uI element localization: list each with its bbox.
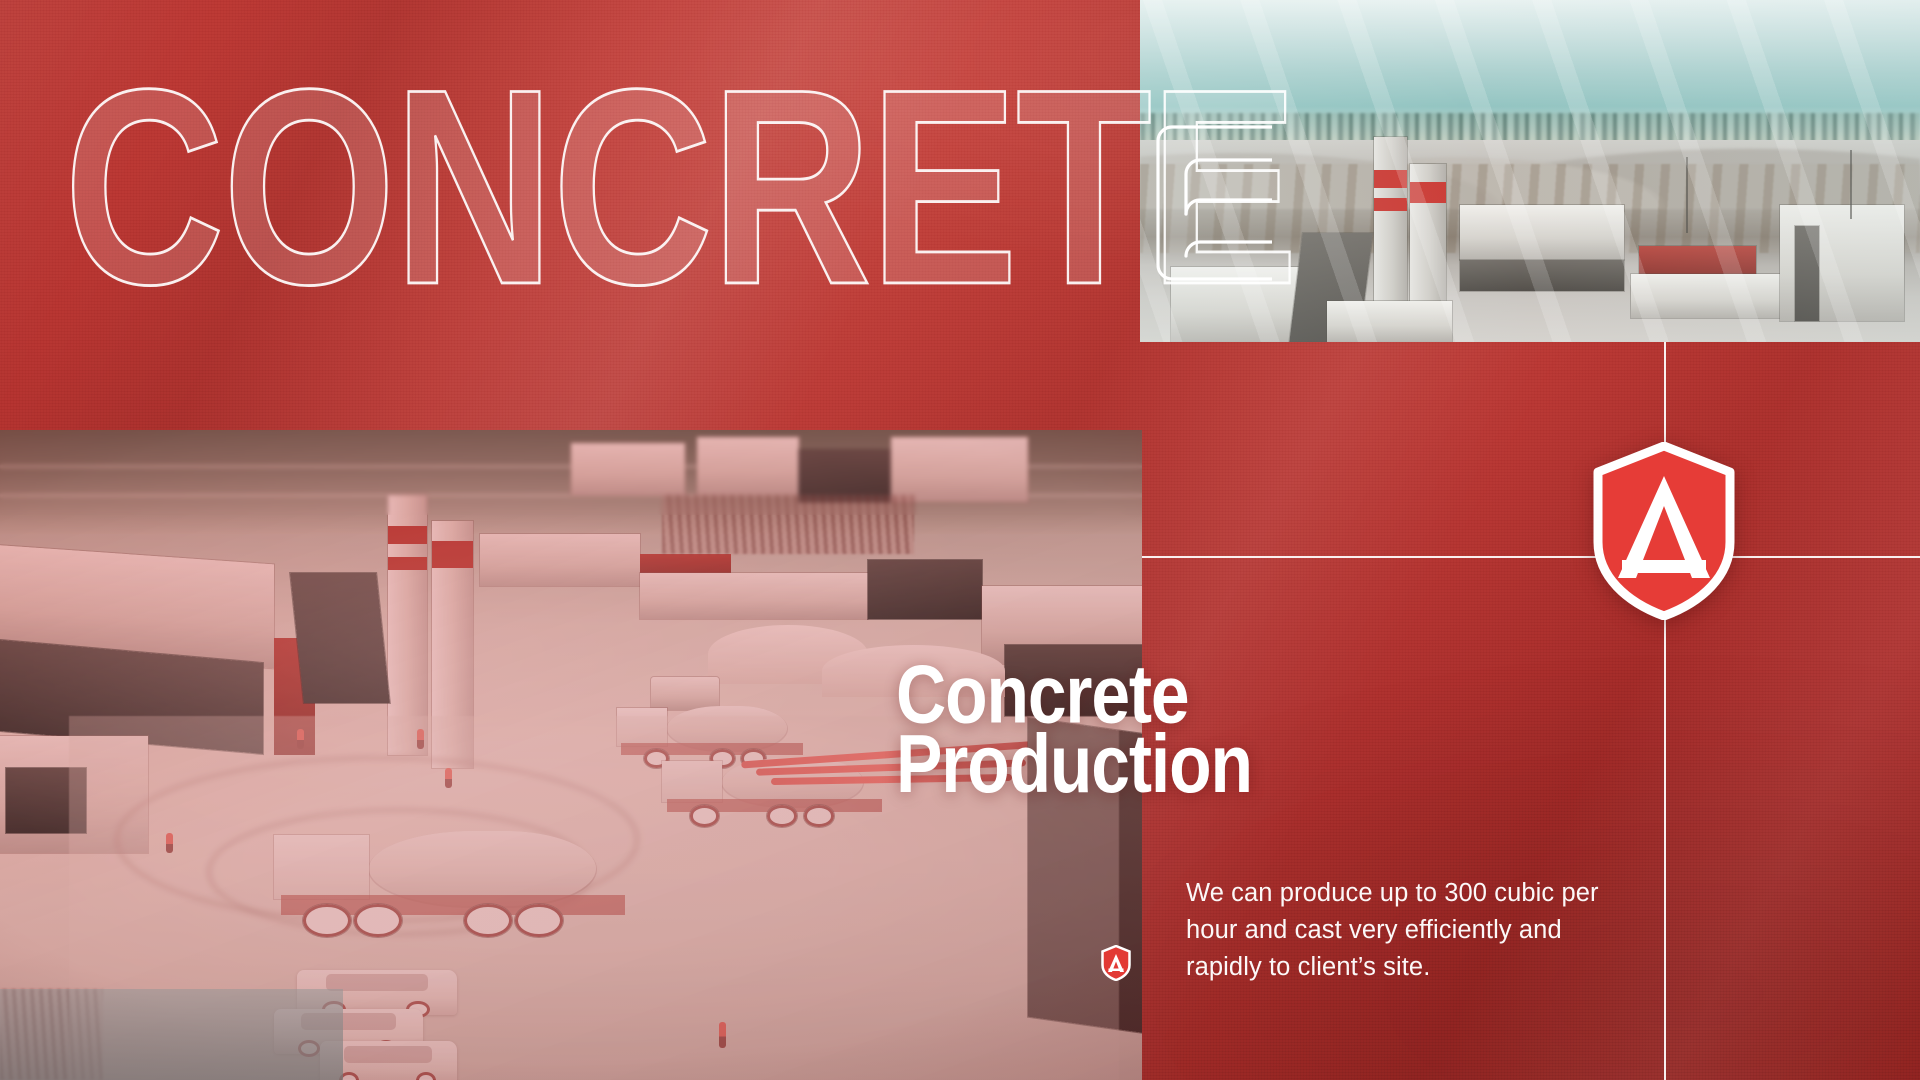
distant-building xyxy=(571,443,685,495)
silo-red-band xyxy=(388,557,427,570)
silo-red-band xyxy=(1374,198,1407,210)
shed-shadow xyxy=(1460,260,1624,291)
conveyor-shield xyxy=(290,573,389,703)
silo-red-band xyxy=(388,526,427,544)
silo-red-band xyxy=(1374,170,1407,188)
flat-roof xyxy=(1327,301,1452,342)
alba-shield-watermark-icon xyxy=(1101,945,1131,981)
hero-heading-line-2: Production xyxy=(896,730,1422,800)
long-shed xyxy=(1460,205,1624,260)
shed-row xyxy=(640,573,868,619)
power-pylon xyxy=(1850,150,1852,218)
corner-bracket-ornament-icon xyxy=(1152,122,1272,284)
slide-canvas: CONCRETE Concrete Production We can prod… xyxy=(0,0,1920,1080)
alba-shield-logo-icon[interactable] xyxy=(1592,442,1736,620)
silo-red-band xyxy=(1410,182,1446,203)
horizontal-guide-line xyxy=(1142,556,1920,558)
silo-red-band xyxy=(432,541,473,568)
distant-building xyxy=(891,437,1028,502)
hero-body-copy: We can produce up to 300 cubic per hour … xyxy=(1186,875,1606,986)
hero-heading: Concrete Production xyxy=(896,660,1422,799)
power-pylon xyxy=(1686,157,1688,232)
distant-building xyxy=(799,450,890,502)
control-building xyxy=(480,534,640,586)
dark-shed xyxy=(868,560,982,619)
silo-column xyxy=(1795,226,1818,322)
vegetation-strip xyxy=(662,495,913,554)
distant-building xyxy=(697,437,800,496)
canopy-shed xyxy=(1631,274,1779,318)
red-roof-building xyxy=(1639,246,1756,273)
